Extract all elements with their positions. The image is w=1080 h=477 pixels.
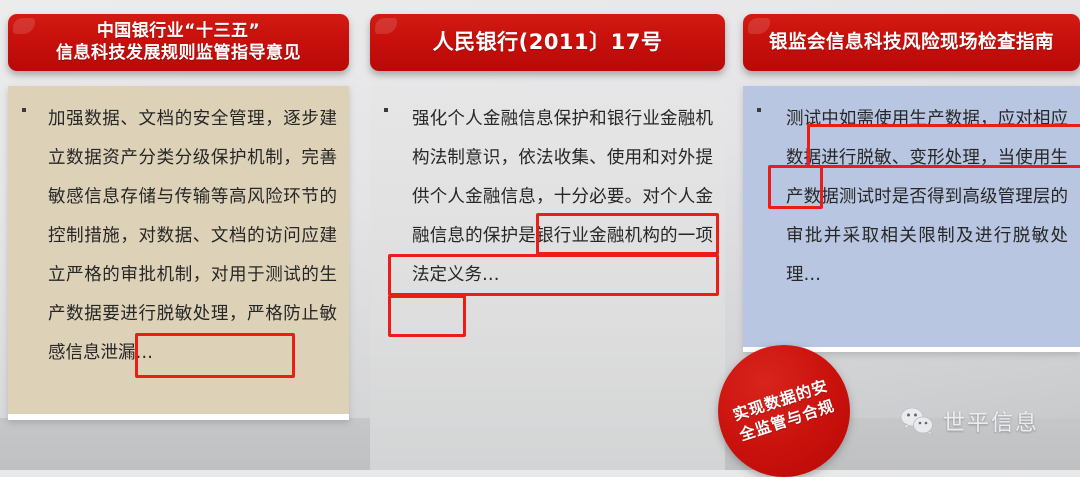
- column-1-header-line-2: 信息科技发展规则监管指导意见: [56, 43, 301, 65]
- slide-canvas: 中国银行业“十三五” 信息科技发展规则监管指导意见 加强数据、文档的安全管理，逐…: [0, 0, 1080, 470]
- column-3-header-line-1: 银监会信息科技风险现场检查指南: [769, 31, 1054, 55]
- watermark: 世平信息: [900, 405, 1039, 437]
- column-1-body-text: 加强数据、文档的安全管理，逐步建立数据资产分类分级保护机制，完善敏感信息存储与传…: [48, 100, 337, 373]
- column-3-paragraph: 测试中如需使用生产数据，应对相应数据进行脱敏、变形处理，当使用生产数据测试时是否…: [743, 86, 1080, 295]
- column-3-header: 银监会信息科技风险现场检查指南: [743, 14, 1080, 71]
- column-3-card: 测试中如需使用生产数据，应对相应数据进行脱敏、变形处理，当使用生产数据测试时是否…: [743, 86, 1080, 352]
- wechat-icon: [900, 407, 934, 435]
- column-1-card: 加强数据、文档的安全管理，逐步建立数据资产分类分级保护机制，完善敏感信息存储与传…: [8, 86, 349, 420]
- summary-badge-text: 实现数据的安 全监管与合规: [724, 374, 843, 448]
- summary-badge: 实现数据的安 全监管与合规: [718, 345, 850, 477]
- column-2-highlight-3: [388, 295, 466, 337]
- bullet-icon: [22, 108, 26, 112]
- column-3-body-text: 测试中如需使用生产数据，应对相应数据进行脱敏、变形处理，当使用生产数据测试时是否…: [786, 100, 1068, 295]
- column-2-body-text: 强化个人金融信息保护和银行业金融机构法制意识，依法收集、使用和对外提供个人金融信…: [412, 100, 713, 295]
- column-2-card: 强化个人金融信息保护和银行业金融机构法制意识，依法收集、使用和对外提供个人金融信…: [370, 86, 725, 470]
- column-2-header: 人民银行(2011〕17号: [370, 14, 725, 71]
- bullet-icon: [384, 108, 388, 112]
- column-2-paragraph: 强化个人金融信息保护和银行业金融机构法制意识，依法收集、使用和对外提供个人金融信…: [370, 86, 725, 295]
- column-1-paragraph: 加强数据、文档的安全管理，逐步建立数据资产分类分级保护机制，完善敏感信息存储与传…: [8, 86, 349, 373]
- column-2-header-line-1: 人民银行(2011〕17号: [433, 29, 663, 56]
- column-1-header: 中国银行业“十三五” 信息科技发展规则监管指导意见: [8, 14, 349, 71]
- bullet-icon: [757, 108, 761, 112]
- watermark-text: 世平信息: [943, 405, 1039, 437]
- column-1-header-line-1: 中国银行业“十三五”: [56, 21, 301, 43]
